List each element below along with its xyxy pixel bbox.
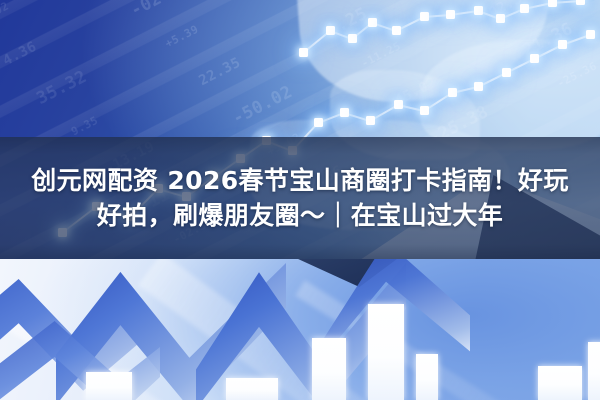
- chart-node-marker: [496, 14, 505, 23]
- chart-node-marker: [366, 116, 375, 125]
- chart-node-marker: [474, 6, 483, 15]
- chart-node-marker: [586, 30, 595, 39]
- bar-column: [312, 338, 346, 400]
- chart-node-marker: [392, 26, 401, 35]
- chart-node-marker: [502, 68, 511, 77]
- chart-node-marker: [299, 48, 308, 57]
- chart-node-marker: [520, 4, 529, 13]
- headline-line-2: 好拍，刷爆朋友圈～｜在宝山过大年: [97, 201, 503, 231]
- chart-node-marker: [340, 108, 349, 117]
- chart-node-marker: [326, 26, 335, 35]
- chart-node-marker: [576, 0, 585, 5]
- chart-node-marker: [348, 34, 357, 43]
- bar-column: [226, 378, 278, 400]
- bar-column: [368, 304, 404, 400]
- bar-column: [538, 366, 582, 400]
- chart-node-marker: [474, 82, 483, 91]
- arrow-chart-background: [0, 259, 600, 400]
- chart-node-marker: [530, 54, 539, 63]
- chart-node-marker: [314, 118, 323, 127]
- chart-node-marker: [420, 12, 429, 21]
- chart-node-marker: [558, 40, 567, 49]
- headline-block: 创元网配资 2026春节宝山商圈打卡指南！好玩 好拍，刷爆朋友圈～｜在宝山过大年: [0, 137, 600, 259]
- bar-column: [416, 354, 438, 400]
- chart-node-marker: [448, 88, 457, 97]
- headline-line-1: 创元网配资 2026春节宝山商圈打卡指南！好玩: [31, 166, 569, 196]
- chart-node-marker: [548, 0, 557, 7]
- chart-node-marker: [368, 18, 377, 27]
- chart-node-marker: [420, 106, 429, 115]
- bar-column: [86, 372, 132, 400]
- promo-banner: -50.024.36-02.3635.32+5.391.169.3522.351…: [0, 0, 600, 400]
- bar-column: [588, 342, 600, 400]
- chart-node-marker: [394, 100, 403, 109]
- chart-node-marker: [446, 10, 455, 19]
